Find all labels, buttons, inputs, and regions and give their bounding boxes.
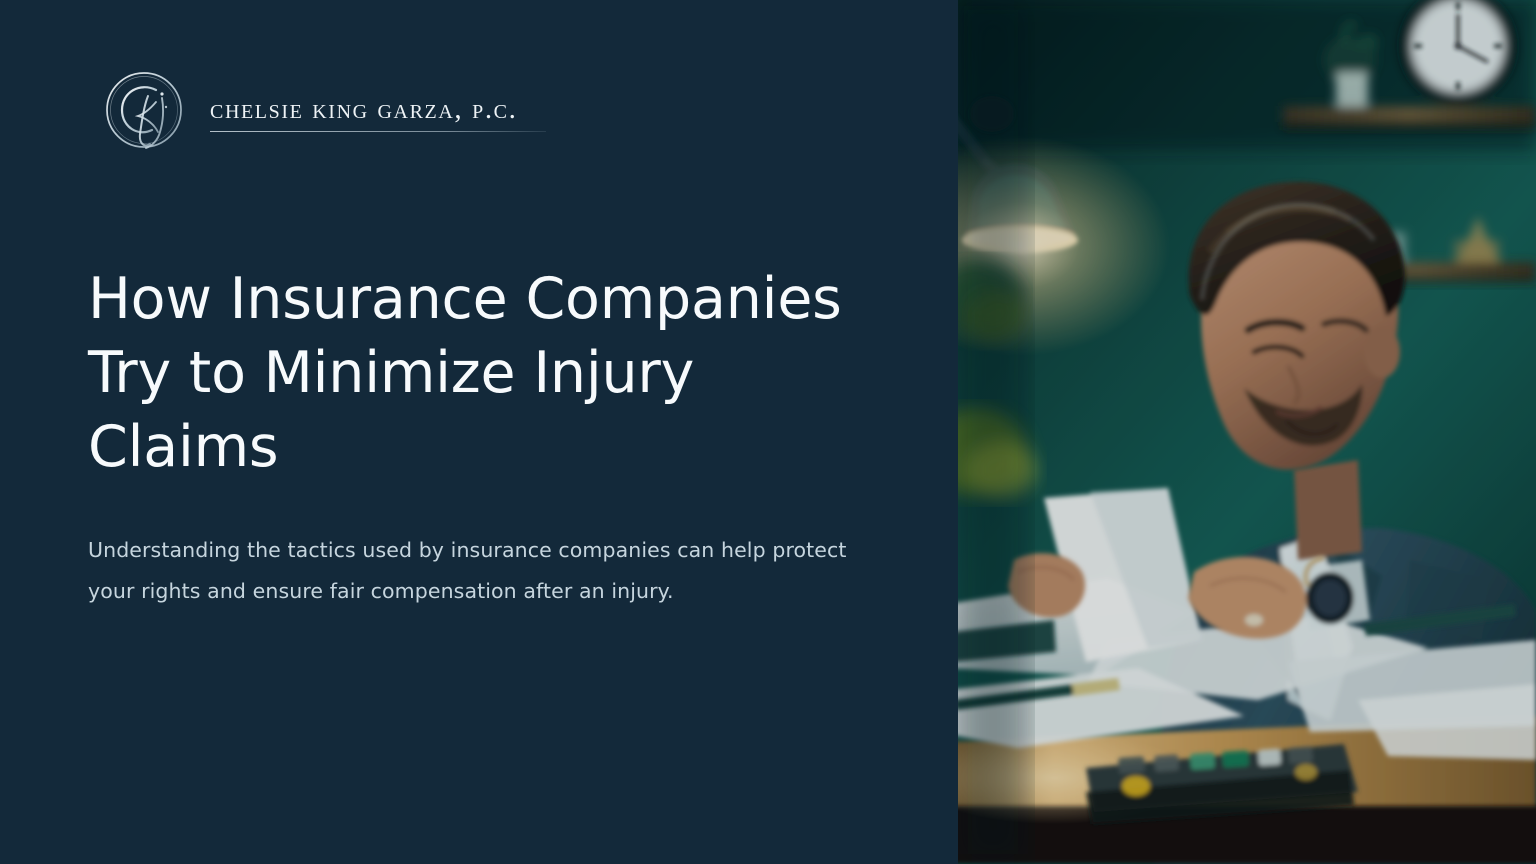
ckg-monogram-icon bbox=[100, 64, 188, 156]
presentation-slide: Chelsie King Garza, P.C. How Insurance C… bbox=[0, 0, 1536, 864]
hero-text-block: How Insurance Companies Try to Minimize … bbox=[88, 262, 888, 612]
page-subtitle: Understanding the tactics used by insura… bbox=[88, 484, 868, 612]
firm-name-text: Chelsie King Garza, P.C. bbox=[210, 94, 546, 124]
page-title: How Insurance Companies Try to Minimize … bbox=[88, 262, 888, 484]
logo-wordmark: Chelsie King Garza, P.C. bbox=[210, 88, 546, 132]
hero-photo bbox=[958, 0, 1536, 864]
left-content-panel: Chelsie King Garza, P.C. How Insurance C… bbox=[0, 0, 958, 864]
logo-underline-rule bbox=[210, 131, 546, 132]
firm-logo[interactable]: Chelsie King Garza, P.C. bbox=[100, 64, 546, 156]
